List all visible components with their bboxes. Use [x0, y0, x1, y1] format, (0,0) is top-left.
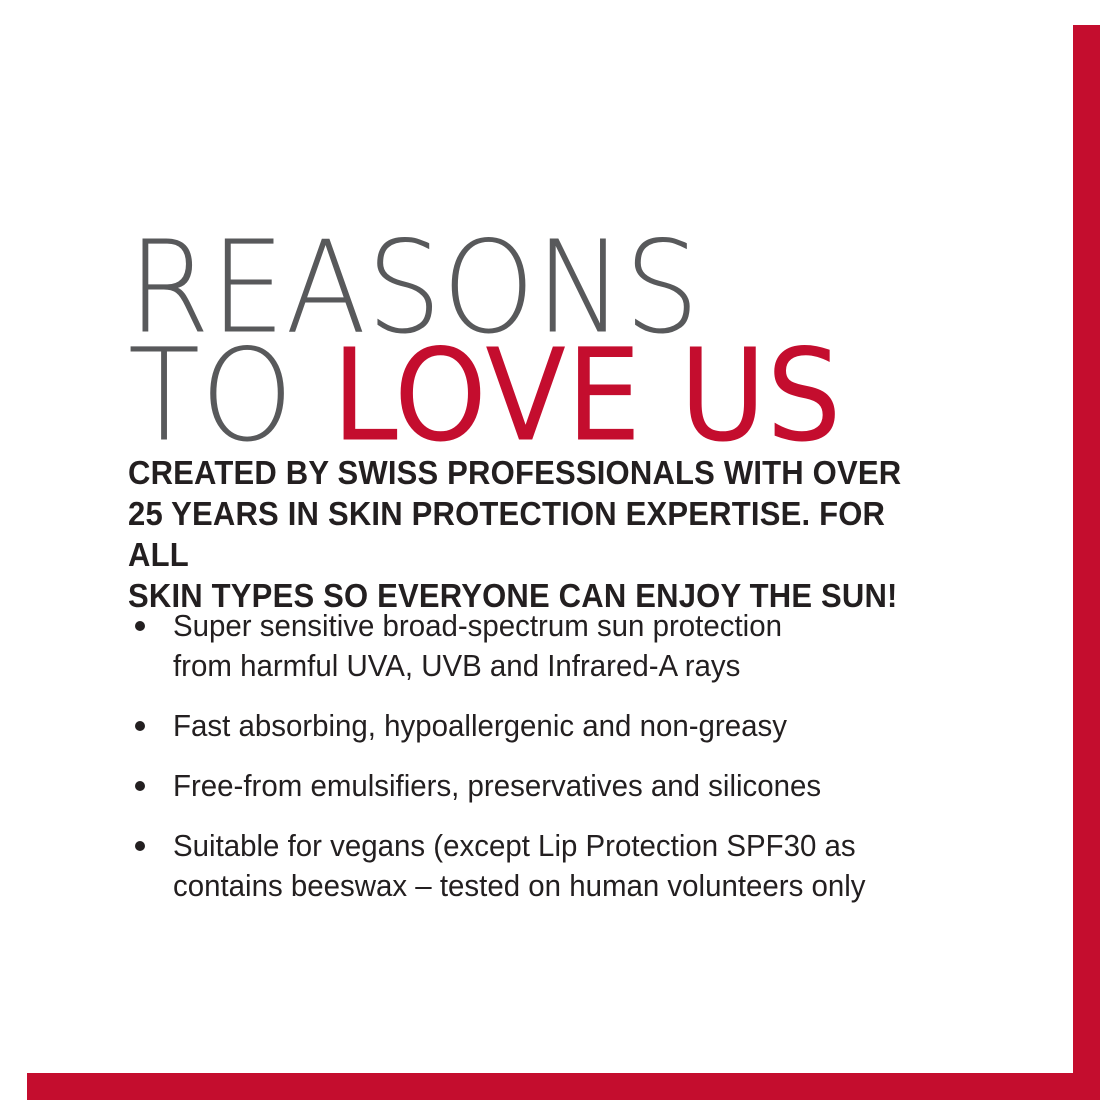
list-item-text: Suitable for vegans (except Lip Protecti…: [173, 826, 966, 906]
bullet-dot-icon: [135, 721, 145, 731]
list-item-line: Fast absorbing, hypoallergenic and non-g…: [173, 706, 966, 746]
list-item-line: Suitable for vegans (except Lip Protecti…: [173, 826, 966, 866]
list-item: Suitable for vegans (except Lip Protecti…: [128, 826, 1008, 906]
headline-accent: LOVE US: [332, 321, 842, 470]
headline-line-2: TO LOVE US: [128, 337, 1048, 454]
bullet-dot-icon: [135, 841, 145, 851]
bullet-dot-icon: [135, 781, 145, 791]
subheading: CREATED BY SWISS PROFESSIONALS WITH OVER…: [128, 452, 988, 616]
list-item: Super sensitive broad-spectrum sun prote…: [128, 606, 1008, 686]
headline-prefix: TO: [128, 321, 332, 470]
list-item-line: Free-from emulsifiers, preservatives and…: [173, 766, 966, 806]
list-item-text: Super sensitive broad-spectrum sun prote…: [173, 606, 966, 686]
subheading-line-1: CREATED BY SWISS PROFESSIONALS WITH OVER: [128, 452, 936, 493]
poster-canvas: REASONS TO LOVE US CREATED BY SWISS PROF…: [0, 0, 1100, 1100]
list-item-line: Super sensitive broad-spectrum sun prote…: [173, 606, 966, 646]
list-item: Fast absorbing, hypoallergenic and non-g…: [128, 706, 1008, 746]
list-item: Free-from emulsifiers, preservatives and…: [128, 766, 1008, 806]
red-vertical-rule: [1073, 25, 1100, 1100]
red-horizontal-rule: [27, 1073, 1100, 1100]
benefits-list: Super sensitive broad-spectrum sun prote…: [128, 606, 1008, 906]
subheading-line-2: 25 YEARS IN SKIN PROTECTION EXPERTISE. F…: [128, 493, 936, 575]
list-item-line: contains beeswax – tested on human volun…: [173, 866, 966, 906]
list-item-text: Free-from emulsifiers, preservatives and…: [173, 766, 966, 806]
list-item-line: from harmful UVA, UVB and Infrared-A ray…: [173, 646, 966, 686]
list-item-text: Fast absorbing, hypoallergenic and non-g…: [173, 706, 966, 746]
page-title: REASONS TO LOVE US: [128, 229, 1048, 445]
bullet-dot-icon: [135, 621, 145, 631]
